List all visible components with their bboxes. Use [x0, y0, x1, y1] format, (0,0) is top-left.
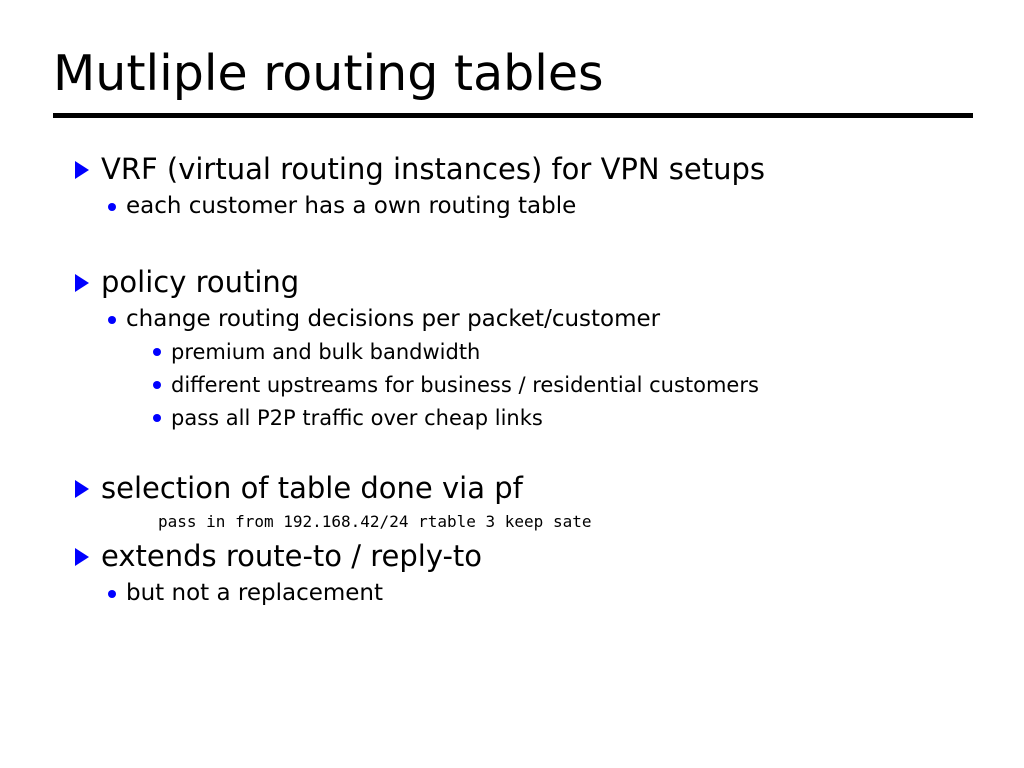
bullet-text: premium and bulk bandwidth: [171, 336, 480, 369]
slide-body: VRF (virtual routing instances) for VPN …: [0, 150, 1024, 610]
triangle-right-bullet-icon: [75, 548, 89, 566]
bullet-item-level3: different upstreams for business / resid…: [0, 369, 1024, 402]
bullet-text: extends route-to / reply-to: [101, 537, 482, 575]
triangle-right-bullet-icon: [75, 274, 89, 292]
bullet-text: pass all P2P traffic over cheap links: [171, 402, 543, 435]
bullet-item-level3: pass all P2P traffic over cheap links: [0, 402, 1024, 435]
round-bullet-icon: [108, 590, 116, 598]
bullet-item-level2: each customer has a own routing table: [0, 190, 1024, 223]
bullet-text: policy routing: [101, 263, 299, 301]
bullet-item-level3: premium and bulk bandwidth: [0, 336, 1024, 369]
bullet-text: VRF (virtual routing instances) for VPN …: [101, 150, 765, 188]
section-spacer: [0, 435, 1024, 469]
triangle-right-bullet-icon: [75, 161, 89, 179]
title-divider: [53, 113, 973, 118]
round-bullet-icon: [108, 316, 116, 324]
bullet-item-level1: policy routing: [0, 263, 1024, 301]
code-snippet: pass in from 192.168.42/24 rtable 3 keep…: [0, 509, 1024, 535]
round-bullet-icon: [153, 381, 161, 389]
bullet-text: change routing decisions per packet/cust…: [126, 303, 660, 336]
presentation-slide: Mutliple routing tables VRF (virtual rou…: [0, 0, 1024, 768]
bullet-item-level2: change routing decisions per packet/cust…: [0, 303, 1024, 336]
triangle-right-bullet-icon: [75, 480, 89, 498]
bullet-text: selection of table done via pf: [101, 469, 523, 507]
round-bullet-icon: [153, 414, 161, 422]
bullet-item-level2: but not a replacement: [0, 577, 1024, 610]
bullet-text: but not a replacement: [126, 577, 383, 610]
round-bullet-icon: [108, 203, 116, 211]
round-bullet-icon: [153, 348, 161, 356]
code-text: pass in from 192.168.42/24 rtable 3 keep…: [158, 509, 591, 535]
bullet-item-level1: extends route-to / reply-to: [0, 537, 1024, 575]
bullet-item-level1: selection of table done via pf: [0, 469, 1024, 507]
bullet-text: different upstreams for business / resid…: [171, 369, 759, 402]
title-block: Mutliple routing tables: [53, 48, 973, 101]
bullet-item-level1: VRF (virtual routing instances) for VPN …: [0, 150, 1024, 188]
page-title: Mutliple routing tables: [53, 48, 973, 101]
section-spacer: [0, 223, 1024, 263]
bullet-text: each customer has a own routing table: [126, 190, 576, 223]
